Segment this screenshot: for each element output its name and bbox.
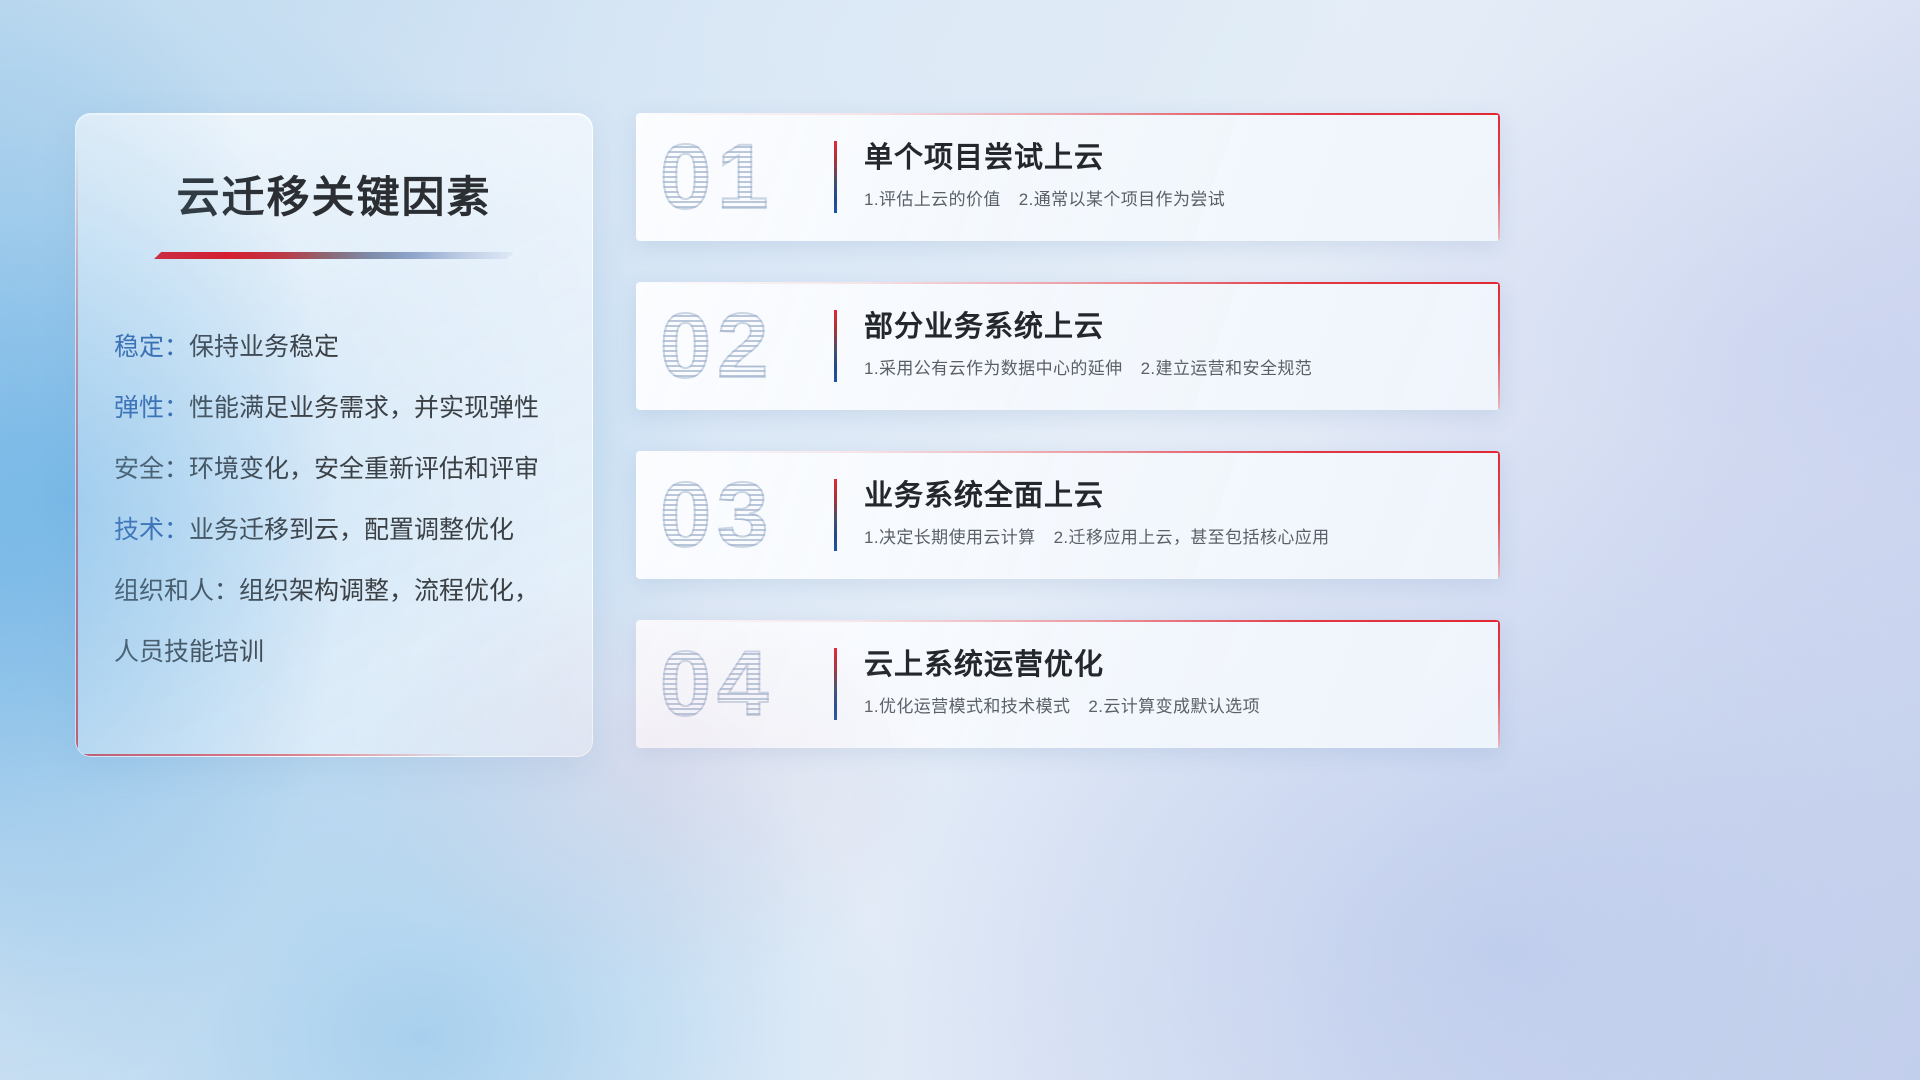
stage-card[interactable]: 04云上系统运营优化1.优化运营模式和技术模式2.云计算变成默认选项 (636, 620, 1500, 748)
stage-point-2: 2.云计算变成默认选项 (1088, 697, 1260, 716)
factor-label: 弹性： (114, 394, 189, 422)
stage-point-2: 2.迁移应用上云，甚至包括核心应用 (1054, 528, 1330, 547)
stage-title: 单个项目尝试上云 (864, 139, 1460, 177)
stage-point-2: 2.建立运营和安全规范 (1141, 359, 1313, 378)
stage-subtitle: 1.优化运营模式和技术模式2.云计算变成默认选项 (864, 695, 1460, 719)
factor-text: 性能满足业务需求，并实现弹性 (189, 394, 539, 422)
stage-body: 业务系统全面上云1.决定长期使用云计算2.迁移应用上云，甚至包括核心应用 (864, 477, 1460, 550)
factor-item: 安全：环境变化，安全重新评估和评审 (114, 439, 592, 500)
factor-text: 业务迁移到云，配置调整优化 (189, 516, 514, 544)
stage-point-1: 1.采用公有云作为数据中心的延伸 (864, 359, 1123, 378)
factor-label: 稳定： (114, 333, 189, 361)
factor-item: 技术：业务迁移到云，配置调整优化 (114, 500, 592, 561)
stage-number: 01 (660, 131, 774, 223)
stage-point-1: 1.评估上云的价值 (864, 190, 1001, 209)
stage-number: 03 (660, 469, 774, 561)
factor-label: 技术： (114, 516, 189, 544)
stage-body: 云上系统运营优化1.优化运营模式和技术模式2.云计算变成默认选项 (864, 646, 1460, 719)
stage-point-1: 1.决定长期使用云计算 (864, 528, 1036, 547)
page-title: 云迁移关键因素 (76, 163, 592, 225)
stage-body: 单个项目尝试上云1.评估上云的价值2.通常以某个项目作为尝试 (864, 139, 1460, 212)
stage-divider-rule (834, 648, 837, 720)
stage-card[interactable]: 03业务系统全面上云1.决定长期使用云计算2.迁移应用上云，甚至包括核心应用 (636, 451, 1500, 579)
slide-canvas: 云迁移关键因素 稳定：保持业务稳定弹性：性能满足业务需求，并实现弹性安全：环境变… (0, 0, 1920, 1080)
stage-title: 业务系统全面上云 (864, 477, 1460, 515)
factor-item: 稳定：保持业务稳定 (114, 317, 592, 378)
factor-item: 弹性：性能满足业务需求，并实现弹性 (114, 378, 592, 439)
stage-number: 02 (660, 300, 774, 392)
factor-item: 人员技能培训 (114, 622, 592, 683)
factor-text: 人员技能培训 (114, 638, 264, 666)
stage-point-1: 1.优化运营模式和技术模式 (864, 697, 1070, 716)
stage-card-list: 01单个项目尝试上云1.评估上云的价值2.通常以某个项目作为尝试02部分业务系统… (636, 113, 1500, 789)
stage-subtitle: 1.评估上云的价值2.通常以某个项目作为尝试 (864, 188, 1460, 212)
factor-text: 环境变化，安全重新评估和评审 (189, 455, 539, 483)
stage-point-2: 2.通常以某个项目作为尝试 (1019, 190, 1225, 209)
stage-number: 04 (660, 638, 774, 730)
factor-label: 安全： (114, 455, 189, 483)
stage-title: 云上系统运营优化 (864, 646, 1460, 684)
stage-divider-rule (834, 479, 837, 551)
stage-card[interactable]: 01单个项目尝试上云1.评估上云的价值2.通常以某个项目作为尝试 (636, 113, 1500, 241)
stage-card[interactable]: 02部分业务系统上云1.采用公有云作为数据中心的延伸2.建立运营和安全规范 (636, 282, 1500, 410)
stage-subtitle: 1.采用公有云作为数据中心的延伸2.建立运营和安全规范 (864, 357, 1460, 381)
stage-title: 部分业务系统上云 (864, 308, 1460, 346)
factor-text: 组织架构调整，流程优化， (239, 577, 539, 605)
factor-label: 组织和人： (114, 577, 239, 605)
stage-subtitle: 1.决定长期使用云计算2.迁移应用上云，甚至包括核心应用 (864, 526, 1460, 550)
stage-body: 部分业务系统上云1.采用公有云作为数据中心的延伸2.建立运营和安全规范 (864, 308, 1460, 381)
factor-list: 稳定：保持业务稳定弹性：性能满足业务需求，并实现弹性安全：环境变化，安全重新评估… (114, 317, 592, 683)
factor-text: 保持业务稳定 (189, 333, 339, 361)
factor-item: 组织和人：组织架构调整，流程优化， (114, 561, 592, 622)
stage-divider-rule (834, 141, 837, 213)
stage-divider-rule (834, 310, 837, 382)
key-factors-panel: 云迁移关键因素 稳定：保持业务稳定弹性：性能满足业务需求，并实现弹性安全：环境变… (75, 113, 593, 757)
title-underline-rule (154, 252, 514, 259)
